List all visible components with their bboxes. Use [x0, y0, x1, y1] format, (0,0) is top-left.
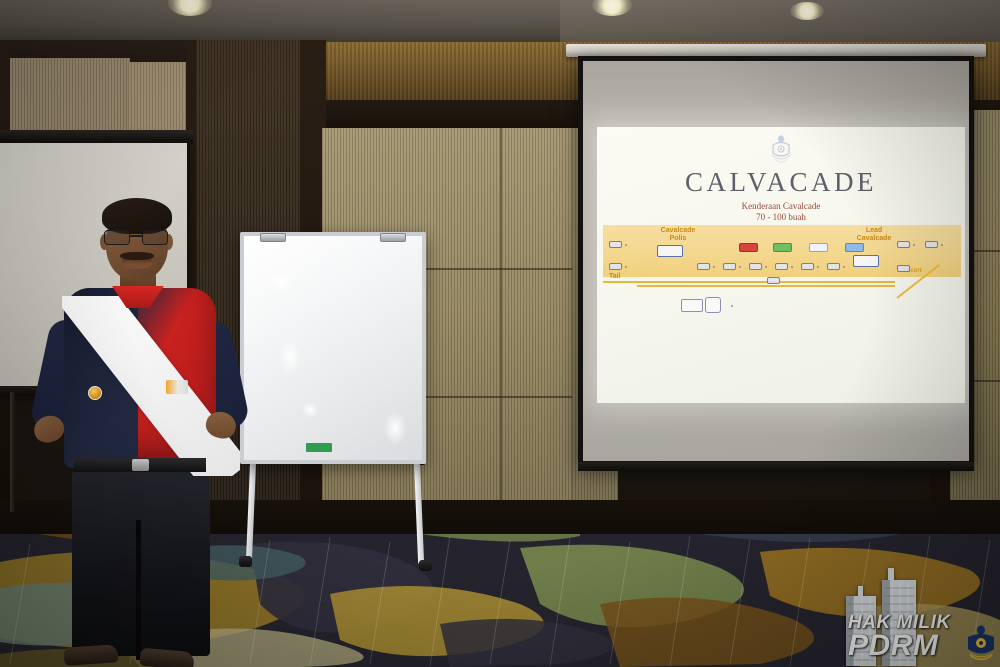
bus-icon-cavalcade-polis: [657, 245, 683, 257]
vehicle-spacer-dot: [941, 244, 943, 246]
slide-title: CALVACADE: [597, 167, 965, 198]
projector-screen: CALVACADE Kenderaan Cavalcade 70 - 100 b…: [578, 56, 974, 466]
belt-buckle: [132, 459, 149, 471]
label-tail: Tail: [609, 273, 639, 281]
vehicle-icon-small: [827, 263, 840, 270]
vehicle-icon-small: [897, 241, 910, 248]
route-line: [637, 285, 895, 287]
vehicle-icon-small: [897, 265, 910, 272]
slide-subtitle-line1: Kenderaan Cavalcade: [597, 201, 965, 212]
vehicle-icon-small: [697, 263, 710, 270]
flipchart-caster: [419, 560, 432, 571]
ceiling-downlight: [790, 2, 824, 20]
vehicle-spacer-dot: [817, 266, 819, 268]
glasses-lens: [142, 230, 168, 245]
projected-slide: CALVACADE Kenderaan Cavalcade 70 - 100 b…: [597, 127, 965, 403]
vehicle-icon-green: [773, 243, 792, 252]
left-screen-stand-pole: [10, 392, 15, 512]
vehicle-icon-small: [925, 241, 938, 248]
trouser-seam: [136, 520, 141, 660]
bus-icon-lead-cavalcade: [853, 255, 879, 267]
vehicle-icon-small: [609, 263, 622, 270]
slide-subtitle-line2: 70 - 100 buah: [597, 212, 965, 223]
glasses-lens: [104, 230, 130, 245]
panel-seam: [500, 128, 502, 528]
whiteboard-glare: [384, 412, 406, 444]
vehicle-icon-small: [609, 241, 622, 248]
whiteboard-glare: [268, 272, 294, 292]
pdrm-crest-icon: [768, 134, 794, 166]
vehicle-icon-small: [775, 263, 788, 270]
vehicle-icon-small: [749, 263, 762, 270]
presenter: [28, 200, 248, 667]
flipchart-whiteboard[interactable]: [240, 232, 426, 464]
vehicle-spacer-dot: [913, 244, 915, 246]
vehicle-spacer-dot: [731, 305, 733, 307]
whiteboard-green-sticker: [306, 443, 332, 452]
presenter-hair: [102, 198, 172, 234]
vehicle-icon-pale: [809, 243, 828, 252]
route-line: [603, 281, 895, 283]
motorcycle-icon: [705, 297, 721, 313]
flipchart-clip[interactable]: [380, 233, 406, 242]
motorcycle-icon: [681, 299, 703, 312]
whiteboard-glare: [280, 340, 300, 374]
vehicle-icon-red: [739, 243, 758, 252]
vehicle-spacer-dot: [625, 244, 627, 246]
presenter-glasses: [104, 230, 170, 245]
label-cavalcade-polis: Cavalcade Polis: [647, 227, 709, 243]
shirt-chest-logo: [166, 380, 188, 394]
glasses-bridge: [130, 235, 142, 237]
sash-badge-pin: [88, 386, 102, 400]
vehicle-icon-small: [801, 263, 814, 270]
vehicle-spacer-dot: [791, 266, 793, 268]
vehicle-spacer-dot: [765, 266, 767, 268]
vehicle-spacer-dot: [713, 266, 715, 268]
vehicle-icon-small: [723, 263, 736, 270]
flipchart-clip[interactable]: [260, 233, 286, 242]
presenter-trousers: [72, 468, 210, 656]
presenter-moustache: [120, 252, 154, 260]
projector-screen-weight-bar: [578, 462, 974, 471]
photo-scene: CALVACADE Kenderaan Cavalcade 70 - 100 b…: [0, 0, 1000, 667]
presenter-sash: [62, 296, 240, 476]
vehicle-icon-small: [767, 277, 780, 284]
slide-subtitle: Kenderaan Cavalcade 70 - 100 buah: [597, 201, 965, 223]
presenter-shoe: [63, 644, 118, 666]
screen-unlit-area: [583, 61, 969, 129]
vehicle-icon-blue: [845, 243, 864, 252]
vehicle-spacer-dot: [843, 266, 845, 268]
whiteboard-glare: [302, 402, 318, 418]
vehicle-spacer-dot: [739, 266, 741, 268]
label-lead-cavalcade: Lead Cavalcade: [843, 227, 905, 243]
vehicle-spacer-dot: [625, 266, 627, 268]
sash-band: [62, 296, 240, 476]
